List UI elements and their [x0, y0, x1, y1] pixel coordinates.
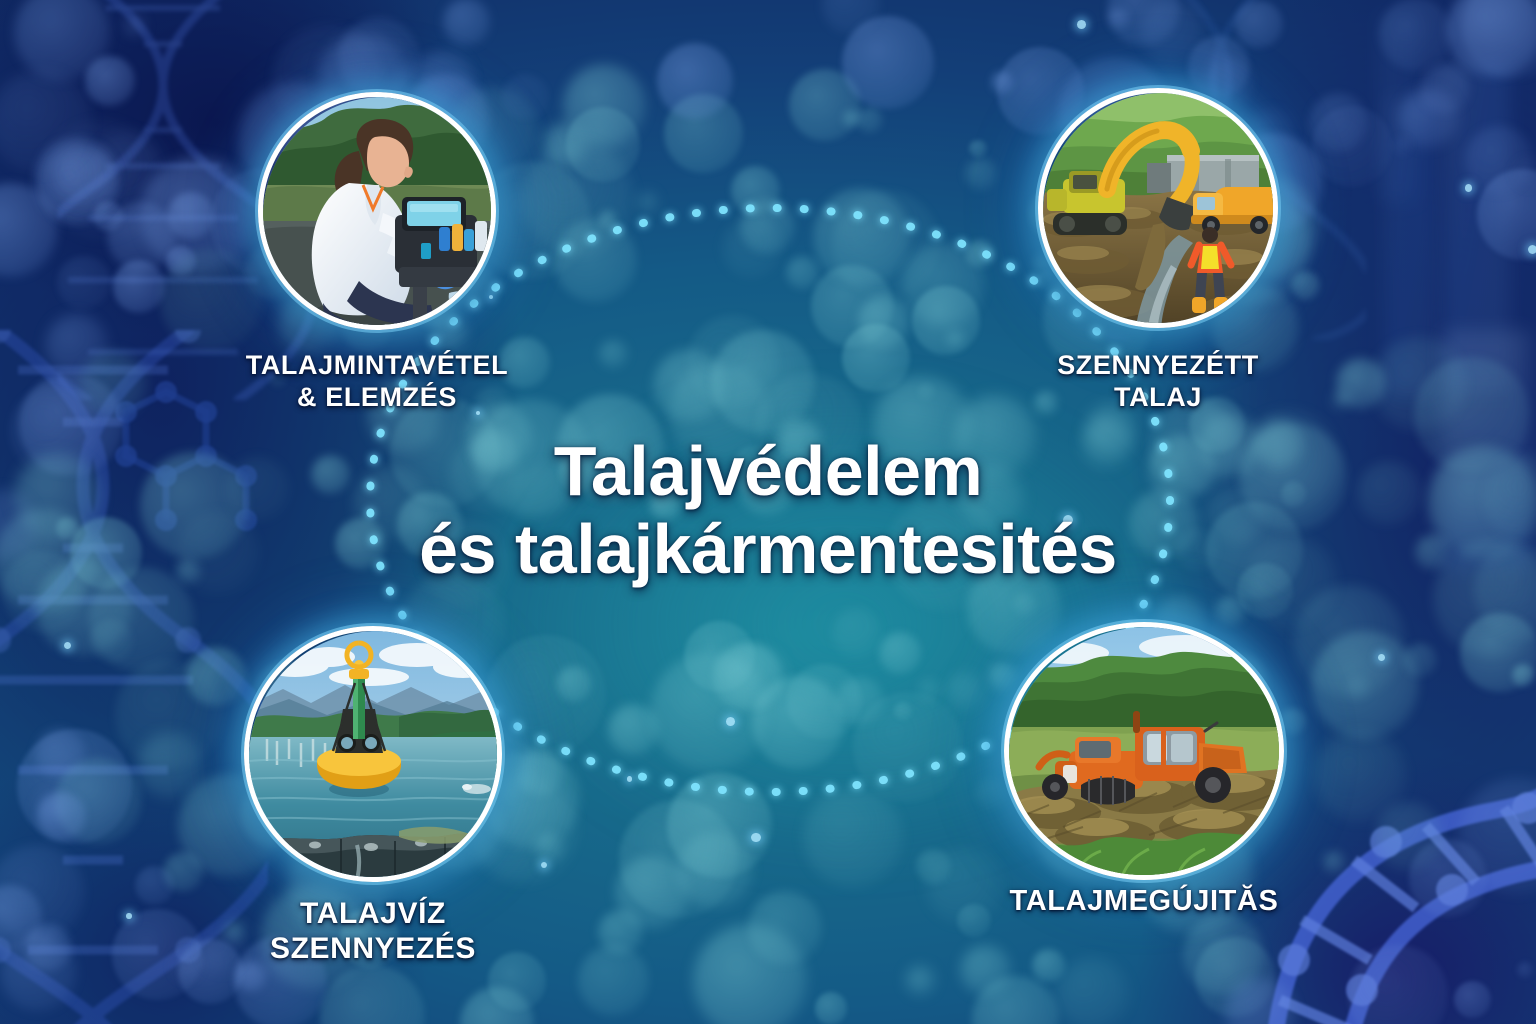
node-groundwater-pollution[interactable]: TALAJVÍZ SZENNYEZÉS	[244, 626, 502, 882]
node-soil-renewal[interactable]: TALAJMEGÚJITĂS	[1004, 622, 1284, 880]
node-label-renewal: TALAJMEGÚJITĂS	[970, 884, 1318, 918]
node-label-sampling: TALAJMINTAVÉTEL & ELEMZÉS	[234, 350, 520, 414]
lab-glassware-blur	[1384, 96, 1438, 396]
title-line-1: Talajvédelem	[554, 432, 983, 510]
node-contaminated-soil[interactable]: SZENNYEZÉTT TALAJ	[1038, 88, 1278, 328]
soil-sampling-scientist-photo[interactable]	[258, 92, 496, 330]
node-label-groundwater: TALAJVÍZ SZENNYEZÉS	[230, 896, 516, 967]
soil-renewal-tilling-photo[interactable]	[1004, 622, 1284, 880]
title-line-2: és talajkármentesités	[268, 510, 1268, 588]
lab-glassware-blur	[1442, 330, 1530, 570]
node-soil-sampling[interactable]: TALAJMINTAVÉTEL & ELEMZÉS	[258, 92, 496, 330]
groundwater-monitoring-buoy-photo[interactable]	[244, 626, 502, 882]
node-label-contaminated: SZENNYEZÉTT TALAJ	[1020, 350, 1296, 414]
contaminated-soil-excavation-photo[interactable]	[1038, 88, 1278, 328]
infographic-stage: TALAJMINTAVÉTEL & ELEMZÉS	[0, 0, 1536, 1024]
page-title: Talajvédelem és talajkármentesités	[268, 432, 1268, 589]
